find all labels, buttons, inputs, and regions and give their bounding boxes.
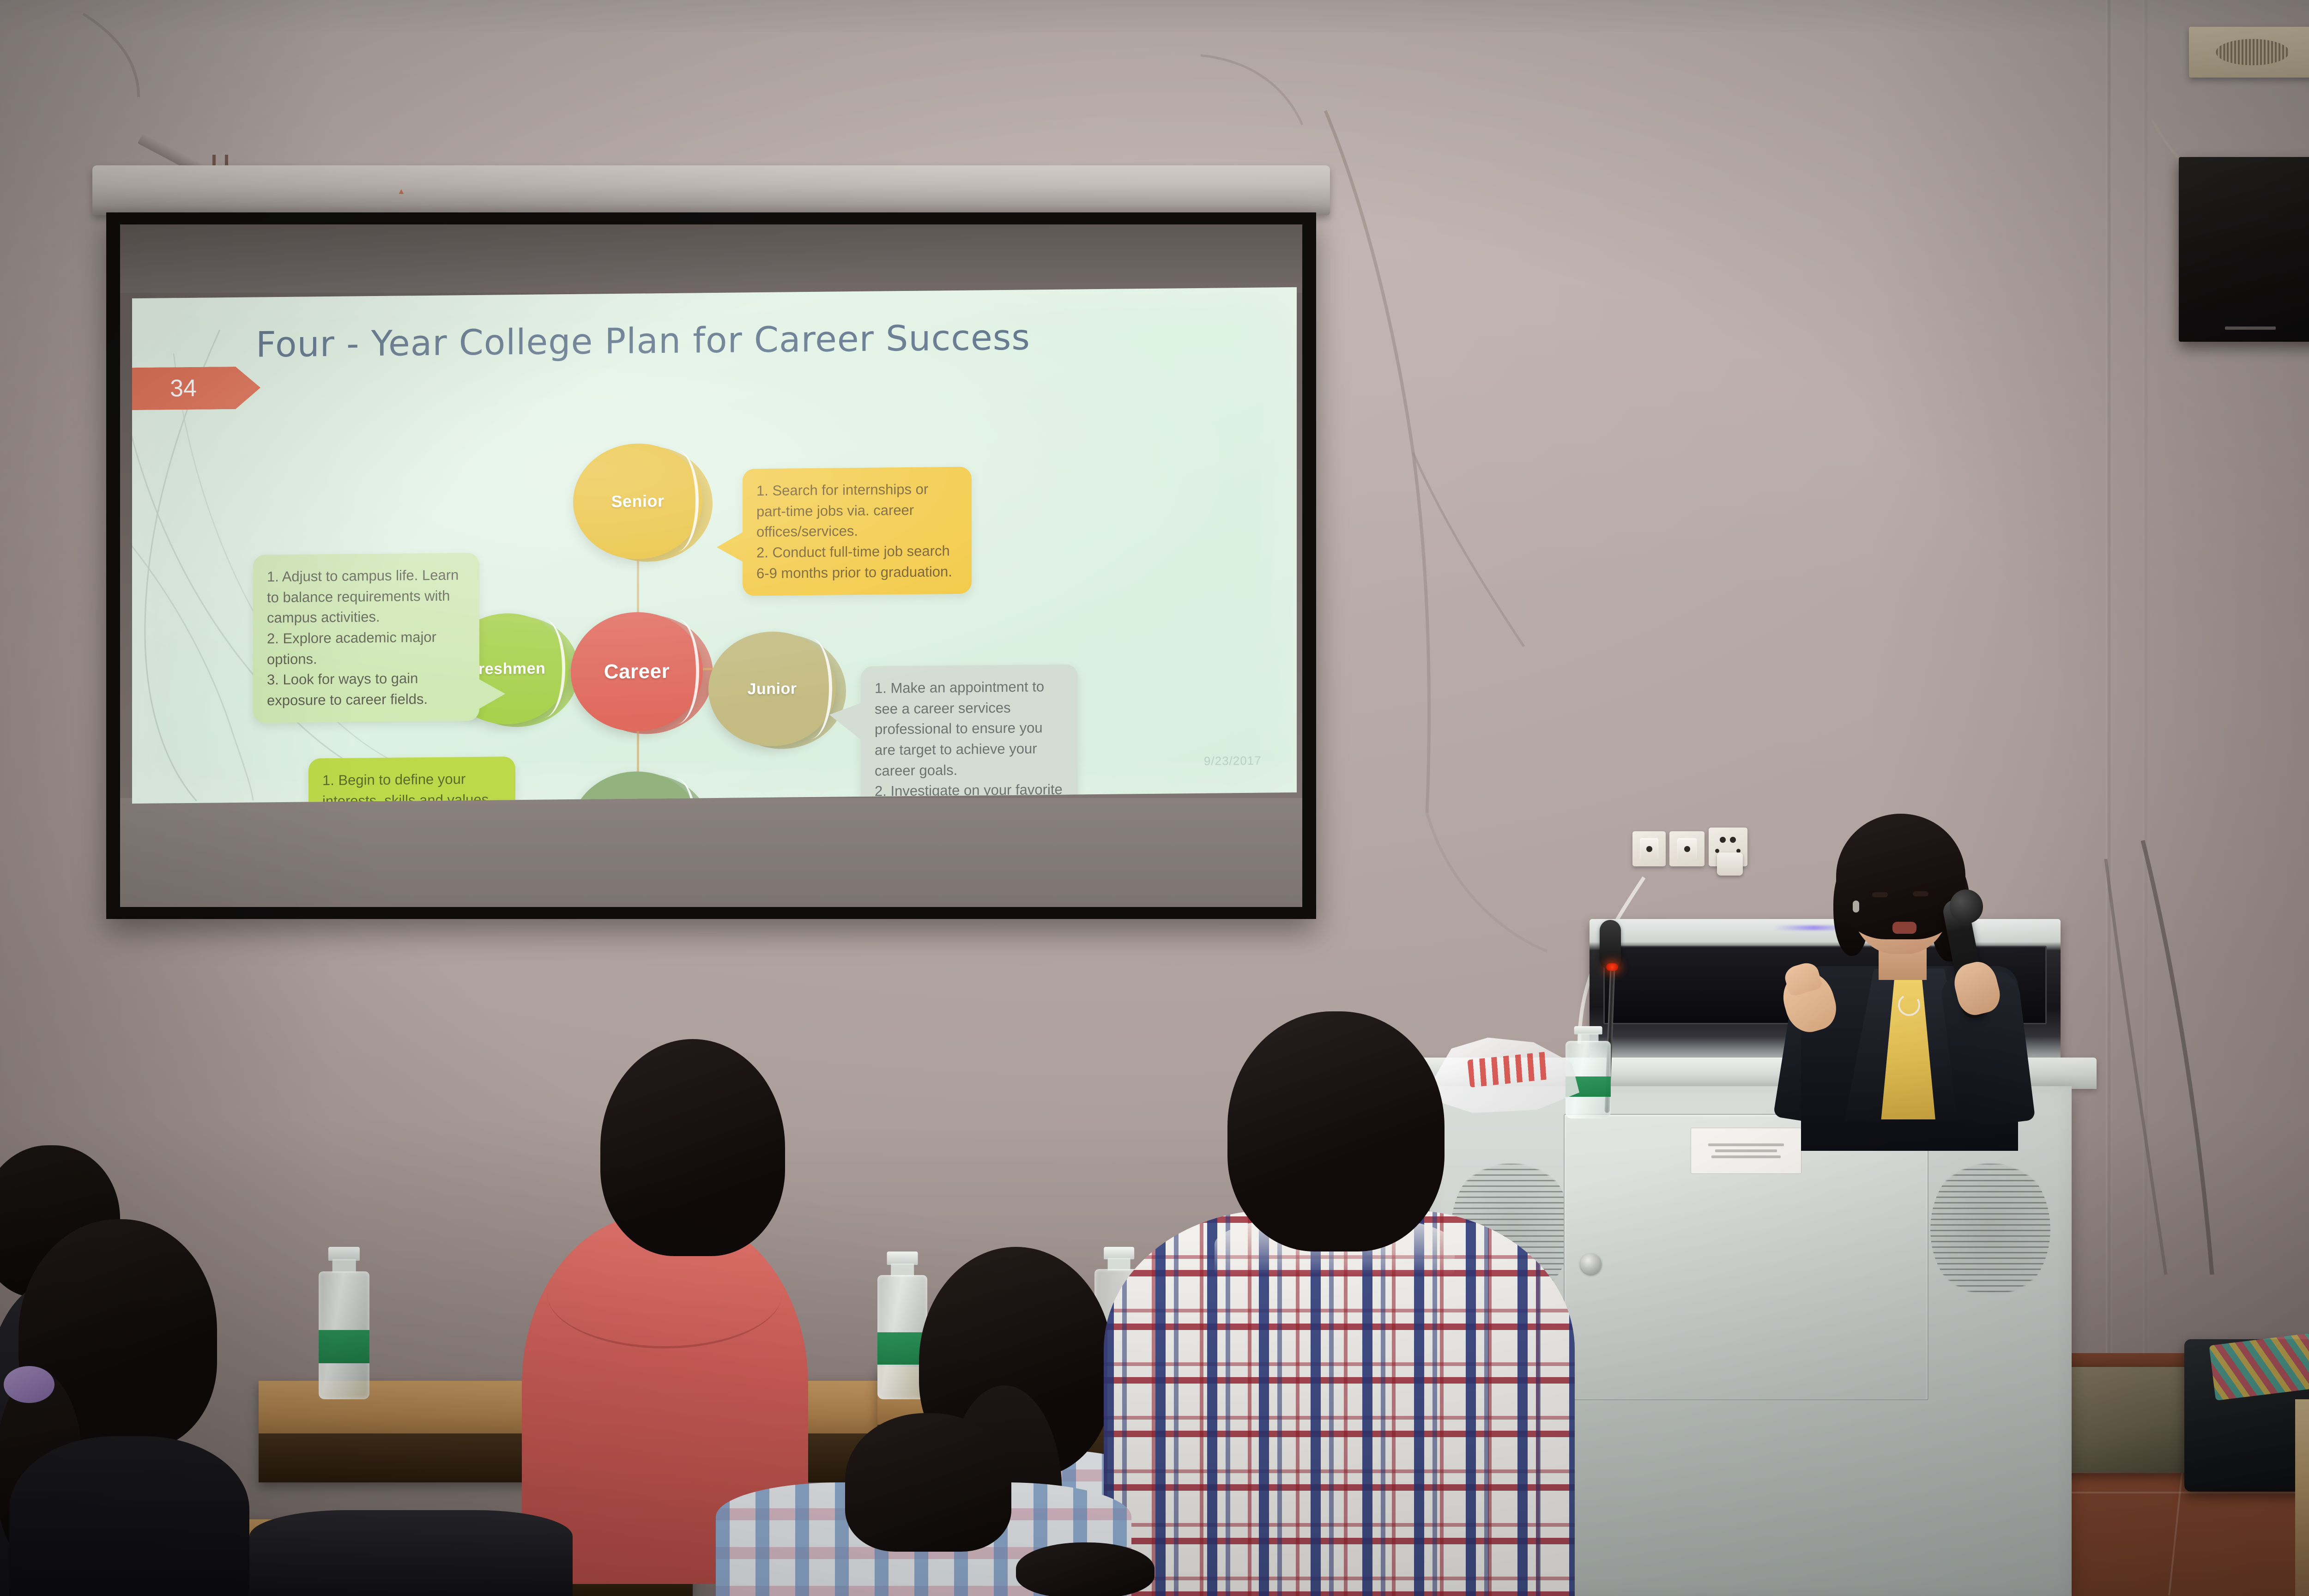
body-bottom-left <box>249 1510 573 1596</box>
bottle-body-1 <box>319 1271 369 1399</box>
screen-unlit-band-top <box>120 224 1302 293</box>
node-career-ring <box>654 619 699 724</box>
callout-junior: 1. Make an appointment to see a career s… <box>861 664 1078 803</box>
callout-junior-item-1: 1. Make an appointment to see a career s… <box>875 677 1064 781</box>
callout-senior: 1. Search for internships or part-time j… <box>743 466 972 596</box>
gooseneck-mic-icon[interactable] <box>1600 920 1621 970</box>
light-switch-2[interactable] <box>1669 831 1705 866</box>
podium-lock-icon[interactable] <box>1580 1253 1602 1275</box>
callout-senior-item-1: 1. Search for internships or part-time j… <box>756 479 958 543</box>
presenter <box>1746 785 2069 1136</box>
side-desk <box>2295 1399 2309 1596</box>
outlet-hole-1 <box>1720 837 1726 843</box>
wall-vent-panel <box>2189 27 2309 78</box>
wall-speaker-icon <box>2179 157 2309 342</box>
presenter-mouth <box>1892 922 1916 934</box>
head-red-top <box>600 1039 785 1256</box>
audience-member-left-ponytail <box>0 1219 259 1596</box>
bottle-neck-1 <box>332 1259 356 1273</box>
light-switch-1[interactable] <box>1632 831 1666 866</box>
switch-dot-1 <box>1646 846 1652 852</box>
audience-member-bottom-right <box>1016 1542 1154 1596</box>
callout-freshmen-item-3: 3. Look for ways to gain exposure to car… <box>267 668 465 711</box>
label-line-1 <box>1708 1143 1784 1146</box>
callout-freshmen-item-1: 1. Adjust to campus life. Learn to balan… <box>267 565 465 629</box>
screen-frame: 34 Four - Year College Plan for Career S… <box>106 212 1316 919</box>
speaker-brand-mark <box>2225 326 2276 330</box>
label-line-2 <box>1715 1149 1777 1152</box>
podium-speaker-right-icon <box>1930 1155 2050 1303</box>
node-career: Career <box>571 611 703 732</box>
callout-junior-tail <box>829 702 863 742</box>
node-junior: Junior <box>708 631 836 747</box>
head-front-plaid <box>845 1413 1011 1552</box>
node-freshmen-ring <box>523 619 565 717</box>
mic-status-indicator <box>1606 963 1618 971</box>
callout-freshmen-tail <box>478 678 505 710</box>
outlet-hole-3 <box>1715 849 1719 853</box>
slide-number-badge: 34 <box>132 366 260 410</box>
node-senior-ring <box>654 450 698 552</box>
presenter-earring <box>1853 901 1859 913</box>
lecture-hall-scene: 34 Four - Year College Plan for Career S… <box>0 0 2309 1596</box>
slide-date-stamp: 9/23/2017 <box>1204 753 1262 768</box>
bottle-label-1 <box>319 1330 369 1363</box>
node-senior: Senior <box>573 443 702 560</box>
podium-cabinet-door[interactable] <box>1564 1114 1928 1400</box>
audience-member-plaid-shirt <box>1104 1011 1575 1596</box>
power-plug[interactable] <box>1717 852 1743 876</box>
screen-surface: 34 Four - Year College Plan for Career S… <box>120 224 1302 907</box>
outlet-hole-2 <box>1730 837 1736 843</box>
roller-brand-logo <box>397 185 406 197</box>
projected-slide: 34 Four - Year College Plan for Career S… <box>132 287 1297 804</box>
node-junior-ring <box>789 638 832 739</box>
screen-unlit-band-bottom <box>120 798 1302 907</box>
slide-number-text: 34 <box>170 375 197 403</box>
presenter-eye-left <box>1872 892 1888 897</box>
audience-member-bottom-left <box>249 1510 573 1596</box>
callout-senior-tail <box>717 531 744 563</box>
screen-roller-housing[interactable] <box>92 165 1330 215</box>
body-left-ponytail <box>9 1436 249 1596</box>
callout-senior-item-2: 2. Conduct full-time job search 6-9 mont… <box>756 541 958 584</box>
head-plaid-shirt <box>1227 1011 1445 1251</box>
head-bottom-right <box>1016 1542 1154 1596</box>
bottle-cap-1 <box>328 1247 360 1261</box>
presenter-eye-right <box>1913 891 1928 896</box>
callout-freshmen-item-2: 2. Explore academic major options. <box>267 627 465 670</box>
backpack-pattern <box>2209 1333 2309 1401</box>
label-line-3 <box>1711 1155 1781 1158</box>
hair-scrunchie <box>4 1366 54 1403</box>
projection-screen: 34 Four - Year College Plan for Career S… <box>92 134 1330 947</box>
callout-sophomore-item-1: 1. Begin to define your interests, skill… <box>322 768 502 803</box>
switch-dot-2 <box>1684 846 1690 852</box>
callout-freshmen: 1. Adjust to campus life. Learn to balan… <box>253 553 479 723</box>
slide-title: Four - Year College Plan for Career Succ… <box>256 316 1030 365</box>
desk-water-bottle-1[interactable] <box>319 1247 369 1399</box>
callout-sophomore: 1. Begin to define your interests, skill… <box>308 756 515 804</box>
